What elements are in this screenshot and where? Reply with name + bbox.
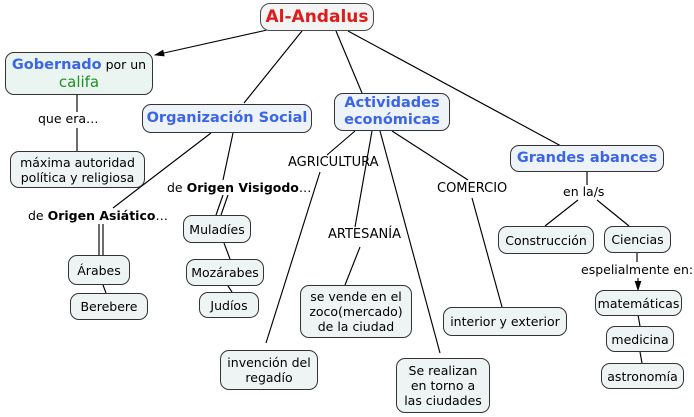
concept-map-canvas: Al-Andalus Gobernado por un califa Organ… xyxy=(0,0,694,417)
edge-label-en-las-text: en la/s xyxy=(563,184,604,199)
node-judios-label: Judíos xyxy=(210,298,247,313)
edge-label-que-era: que era… xyxy=(38,112,99,126)
node-matematicas[interactable]: matemáticas xyxy=(595,290,682,316)
node-organizacion-social-label: Organización Social xyxy=(147,110,308,127)
origen-visigodo-suffix: … xyxy=(299,180,312,195)
node-judios[interactable]: Judíos xyxy=(199,292,259,318)
origen-asiatico-suffix: … xyxy=(155,208,168,223)
edge-actividades-to-artesania xyxy=(355,131,372,227)
node-berebere-label: Berebere xyxy=(80,299,137,314)
node-al-andalus-label: Al-Andalus xyxy=(266,10,369,25)
edge-label-espelialmente-text: espelialmente en: xyxy=(581,262,693,277)
edge-matematicas-to-medicina xyxy=(638,315,640,326)
node-medicina-label: medicina xyxy=(611,332,668,347)
edge-arabes-to-berebere xyxy=(103,285,106,293)
edge-label-origen-visigodo: de Origen Visigodo… xyxy=(167,181,311,195)
edge-actividades-to-agricultura xyxy=(327,131,355,155)
edge-label-comercio-text: COMERCIO xyxy=(437,181,507,196)
node-construccion-label: Construcción xyxy=(505,233,587,248)
node-interior-exterior-label: interior y exterior xyxy=(450,314,560,329)
origen-visigodo-prefix: de xyxy=(167,180,187,195)
edge-label-artesania-text: ARTESANÍA xyxy=(328,227,401,242)
node-zoco-line3: de la ciudad xyxy=(318,319,395,334)
node-ciencias[interactable]: Ciencias xyxy=(604,226,671,253)
edge-medicina-to-astronomia xyxy=(640,352,642,363)
node-muladies-label: Muladíes xyxy=(189,222,244,237)
node-regadio-line1: invención del xyxy=(227,355,310,370)
node-muladies[interactable]: Muladíes xyxy=(183,215,251,243)
edge-enlas-to-ciencias xyxy=(597,200,629,226)
node-mozarabes[interactable]: Mozárabes xyxy=(186,259,264,286)
origen-visigodo-bold: Origen Visigodo xyxy=(187,180,299,195)
edge-muladies-to-mozarabes xyxy=(224,243,230,259)
edge-label-origen-asiatico: de Origen Asiático… xyxy=(28,209,168,223)
edge-label-agricultura: AGRICULTURA xyxy=(288,156,379,170)
node-arabes[interactable]: Árabes xyxy=(68,255,130,285)
node-mozarabes-label: Mozárabes xyxy=(191,265,259,280)
node-ciudades-line3: las ciudades xyxy=(404,393,482,408)
node-astronomia-label: astronomía xyxy=(607,369,677,384)
node-interior-exterior[interactable]: interior y exterior xyxy=(443,307,567,336)
node-maxima-line2: política y religiosa xyxy=(21,170,135,185)
edge-comercio-to-interior xyxy=(472,198,502,307)
node-maxima-line1: máxima autoridad xyxy=(20,155,135,170)
origen-asiatico-prefix: de xyxy=(28,208,48,223)
node-berebere[interactable]: Berebere xyxy=(70,293,148,320)
edge-label-que-era-text: que era… xyxy=(38,111,99,126)
node-ciudades-line1: Se realizan xyxy=(409,363,478,378)
node-actividades-line2: económicas xyxy=(344,112,440,129)
node-matematicas-label: matemáticas xyxy=(598,296,680,311)
node-se-realizan-torno-ciudades[interactable]: Se realizan en torno a las ciudades xyxy=(396,358,490,413)
edge-organizacion-to-visigodo xyxy=(223,133,233,180)
edge-root-to-organizacion xyxy=(244,31,302,103)
node-gobernado-keyword: Gobernado xyxy=(12,57,102,73)
node-ciudades-line2: en torno a xyxy=(411,378,475,393)
node-actividades-economicas[interactable]: Actividades económicas xyxy=(334,93,450,131)
edge-actividades-to-comercio xyxy=(392,131,468,180)
node-medicina[interactable]: medicina xyxy=(606,326,674,352)
edge-label-artesania: ARTESANÍA xyxy=(328,228,401,242)
node-ciencias-label: Ciencias xyxy=(611,232,663,247)
node-maxima-autoridad[interactable]: máxima autoridad política y religiosa xyxy=(10,151,145,188)
edge-visigodo-to-muladies xyxy=(216,195,223,215)
node-gobernado-connector: por un xyxy=(102,57,147,72)
edge-root-to-gobernado xyxy=(155,30,267,55)
edge-enlas-to-construccion xyxy=(545,200,578,226)
node-construccion[interactable]: Construcción xyxy=(498,226,594,254)
edge-label-comercio: COMERCIO xyxy=(437,182,507,196)
node-zoco-mercado[interactable]: se vende en el zoco(mercado) de la ciuda… xyxy=(300,285,412,338)
node-zoco-line2: zoco(mercado) xyxy=(309,304,402,319)
node-organizacion-social[interactable]: Organización Social xyxy=(142,104,312,133)
node-zoco-line1: se vende en el xyxy=(310,289,402,304)
edge-label-en-las: en la/s xyxy=(563,185,604,199)
edge-root-to-actividades xyxy=(336,31,362,93)
edge-artesania-to-zoco xyxy=(345,247,360,285)
node-gobernado-line1: Gobernado por un xyxy=(12,56,146,74)
node-invencion-regadio[interactable]: invención del regadío xyxy=(220,350,318,390)
node-actividades-line1: Actividades xyxy=(344,95,439,112)
node-grandes-abances-label: Grandes abances xyxy=(517,150,657,167)
node-arabes-label: Árabes xyxy=(77,263,121,278)
node-regadio-line2: regadío xyxy=(245,370,292,385)
node-astronomia[interactable]: astronomía xyxy=(601,363,684,389)
node-califa-value: califa xyxy=(59,74,99,91)
node-gobernado-por-un-califa[interactable]: Gobernado por un califa xyxy=(5,52,153,95)
edge-label-agricultura-text: AGRICULTURA xyxy=(288,155,379,170)
node-al-andalus[interactable]: Al-Andalus xyxy=(260,3,374,31)
edge-label-espelialmente-en: espelialmente en: xyxy=(581,263,693,277)
edge-visigodo-to-muladies-b xyxy=(221,195,228,215)
origen-asiatico-bold: Origen Asiático xyxy=(48,208,156,223)
node-grandes-abances[interactable]: Grandes abances xyxy=(510,145,664,172)
